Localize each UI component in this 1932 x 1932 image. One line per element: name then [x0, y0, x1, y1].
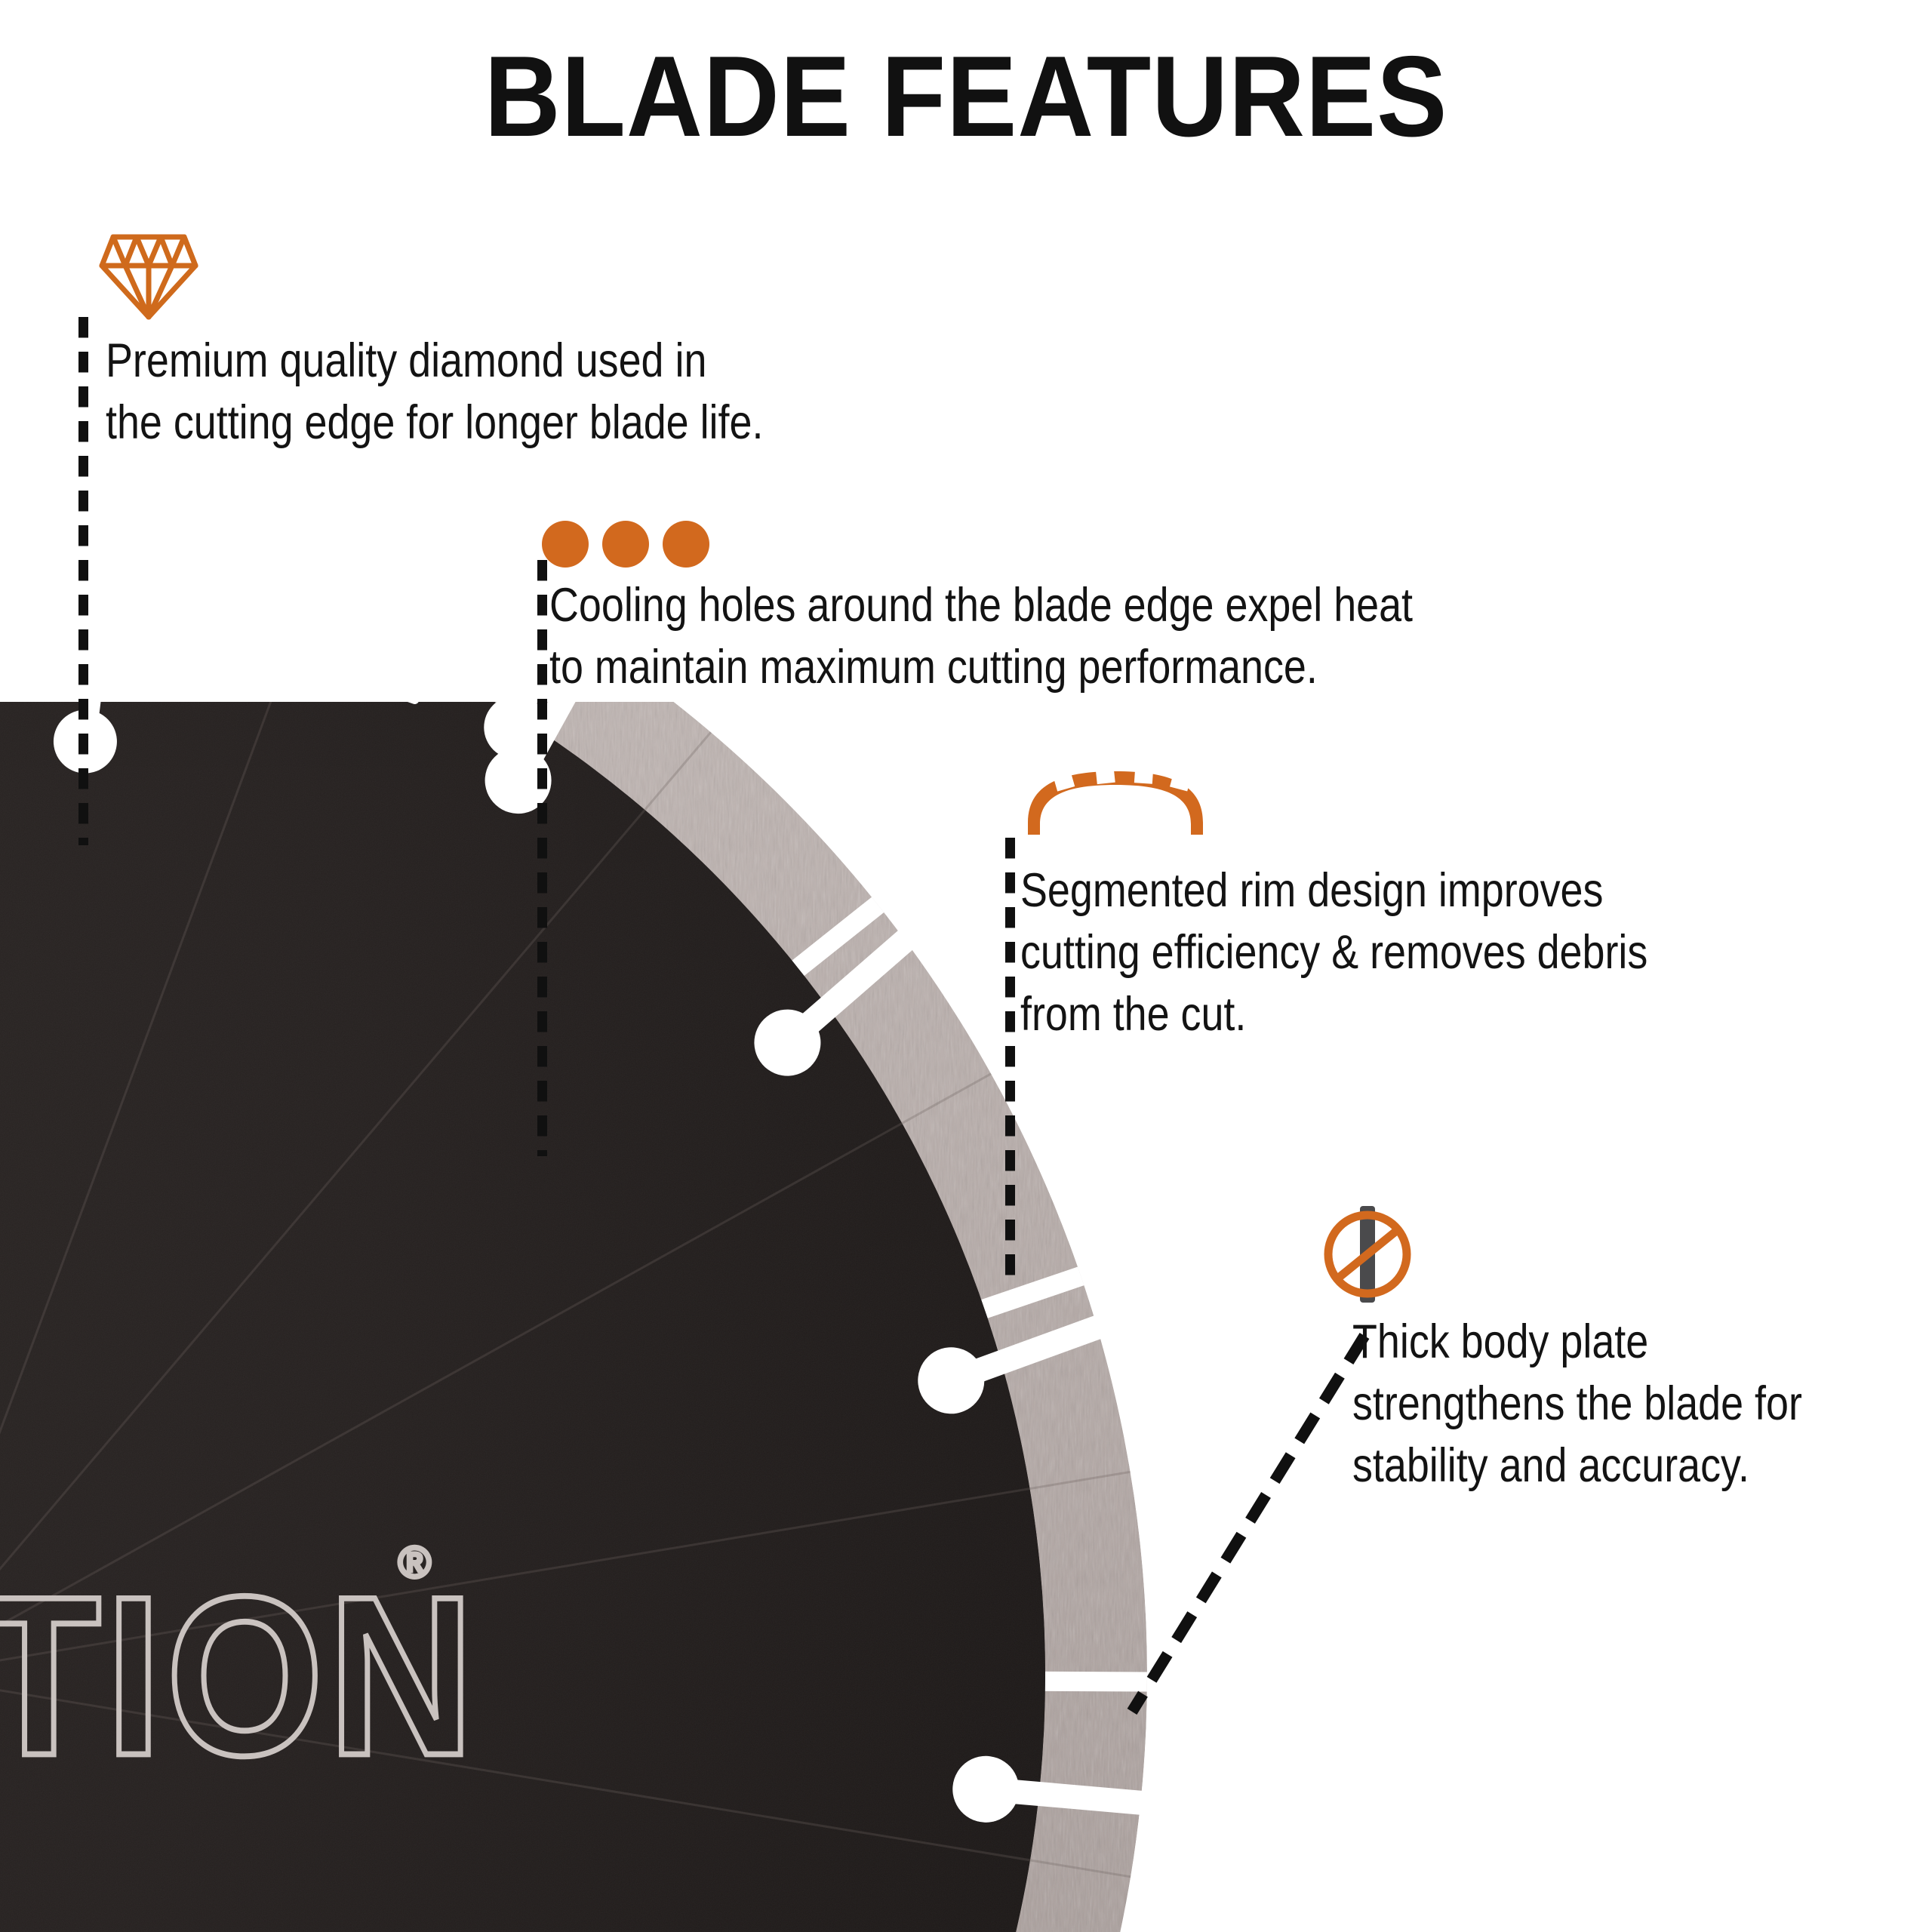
blade-brand-text: TION ®	[0, 1538, 478, 1803]
callout-line: Premium quality diamond used in	[106, 331, 763, 392]
svg-text:®: ®	[398, 1538, 431, 1587]
infographic-canvas: TION ® BLADE FEATURES	[0, 0, 1932, 1932]
page-title: BLADE FEATURES	[77, 39, 1854, 154]
callout-line: Cooling holes around the blade edge expe…	[549, 575, 1413, 637]
callout-cooling-holes: Cooling holes around the blade edge expe…	[549, 575, 1559, 699]
callout-line: Thick body plate	[1352, 1312, 1802, 1374]
three-dots-cooling-holes-icon	[542, 521, 709, 568]
no-thin-plate-prohibition-icon	[1315, 1201, 1420, 1307]
callout-line: the cutting edge for longer blade life.	[106, 392, 763, 454]
leader-line-body-plate	[1124, 1328, 1374, 1721]
leader-line-segmented-rim	[1005, 838, 1016, 1275]
leader-line-diamond	[78, 317, 89, 845]
callout-line: from the cut.	[1020, 984, 1647, 1046]
svg-text:TION: TION	[0, 1549, 478, 1802]
callout-thick-body-plate: Thick body plate strengthens the blade f…	[1352, 1312, 1878, 1497]
segmented-rim-arc-icon	[1020, 768, 1211, 838]
callout-line: stability and accuracy.	[1352, 1435, 1802, 1497]
diamond-gem-icon	[97, 226, 201, 323]
leader-line-cooling	[537, 560, 548, 1156]
callout-line: strengthens the blade for	[1352, 1374, 1802, 1435]
callout-line: cutting efficiency & removes debris	[1020, 922, 1647, 984]
callout-segmented-rim: Segmented rim design improves cutting ef…	[1020, 860, 1754, 1046]
callout-premium-diamond: Premium quality diamond used in the cutt…	[106, 331, 875, 454]
callout-line: to maintain maximum cutting performance.	[549, 637, 1413, 699]
callout-line: Segmented rim design improves	[1020, 860, 1647, 922]
